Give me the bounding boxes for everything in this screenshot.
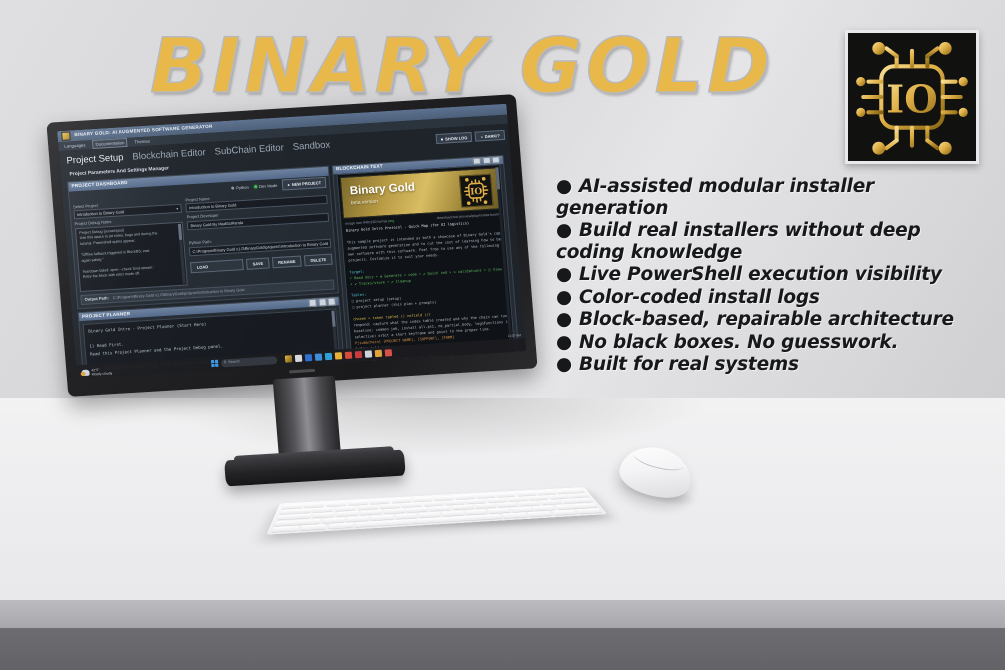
taskbar-icon-notepad[interactable] (364, 350, 372, 357)
python-label: Python (236, 184, 249, 190)
list-item: ●Live PowerShell execution visibility (556, 264, 976, 286)
taskbar-icon-edge[interactable] (304, 354, 312, 361)
monitor-brand-mark (289, 368, 315, 373)
rename-button[interactable]: RENAME (272, 255, 302, 268)
bullet-icon: ● (556, 309, 572, 331)
plus-icon: ● (287, 182, 290, 188)
list-item: ●Color-coded install logs (556, 287, 976, 309)
banner-subtitle: beta version (351, 196, 417, 207)
python-status-chip: Python (231, 184, 249, 190)
format-tag: png (388, 218, 394, 222)
taskbar-icon-recorder[interactable] (354, 351, 362, 358)
menu-item-themes[interactable]: Themes (132, 137, 152, 146)
feature-text: No black boxes. No guesswork. (579, 332, 898, 353)
bullet-icon: ● (556, 287, 572, 309)
feature-list: ●AI-assisted modular installer generatio… (556, 176, 976, 377)
output-path-value: C:\Program\Binary Gold v1.0\BinaryGold\p… (113, 287, 245, 300)
feature-text: Built for real systems (579, 354, 799, 375)
tab-project-setup[interactable]: Project Setup (66, 152, 124, 168)
banner-chip-logo-icon: IO (459, 173, 494, 207)
taskbar-icon-binary-gold[interactable] (284, 355, 292, 362)
taskbar-icon-tools[interactable] (374, 350, 382, 357)
save-button[interactable]: SAVE (246, 257, 269, 270)
feature-text: Block-based, repairable architecture (579, 309, 954, 330)
desktop-monitor: BINARY GOLD: AI AUGMENTED SOFTWARE GENER… (46, 94, 539, 422)
show-log-button[interactable]: ■ SHOW LOG (435, 132, 472, 145)
planner-window-buttons (308, 298, 336, 307)
list-item: ●AI-assisted modular installer generatio… (556, 176, 976, 219)
taskbar-icon-settings[interactable] (314, 353, 322, 360)
taskbar-icon-store[interactable] (324, 353, 332, 360)
bullet-icon: ● (556, 332, 572, 354)
app-icon (61, 131, 71, 141)
list-item: ●Build real installers without deep codi… (556, 220, 976, 263)
search-placeholder: Search (228, 360, 240, 366)
devmode-status-dot (254, 185, 258, 189)
show-log-label: SHOW LOG (445, 135, 468, 142)
devmode-status-chip: Dev Mode (253, 183, 277, 190)
python-status-dot (231, 186, 235, 190)
tray-clock: 11:07 AM (508, 333, 522, 338)
taskbar-icon-terminal[interactable] (384, 349, 392, 356)
blockchain-text-body: Binary Gold beta version (336, 164, 515, 368)
menu-item-languages[interactable]: Languages (62, 141, 88, 150)
binary-gold-chip-logo-icon: IO (845, 30, 979, 164)
bullet-icon: ● (556, 354, 572, 376)
delete-button[interactable]: DELETE (304, 253, 333, 266)
minimize-button[interactable] (308, 299, 317, 307)
logo-text: IO (886, 77, 937, 122)
load-button[interactable]: LOAD (190, 259, 244, 274)
bullet-icon: ● (556, 264, 572, 286)
dark-mode-button[interactable]: ◑ DARK/? (475, 130, 505, 142)
list-item: ●Block-based, repairable architecture (556, 309, 976, 331)
panel-title: PROJECT PLANNER (82, 311, 131, 320)
log-icon: ■ (441, 136, 444, 142)
bullet-icon: ● (556, 220, 572, 242)
poster-canvas: BINARY GOLD (0, 0, 1005, 670)
feature-text: Build real installers without deep codin… (556, 220, 921, 263)
taskbar-icon-explorer[interactable] (294, 355, 302, 362)
project-dashboard-panel: PROJECT DASHBOARD Python (67, 165, 339, 309)
system-tray[interactable]: 11:07 AM (508, 333, 522, 338)
maximize-button[interactable] (318, 298, 327, 306)
weather-text: 42°F Mostly cloudy (91, 367, 112, 376)
devmode-label: Dev Mode (259, 183, 278, 189)
taskbar-icon-folder[interactable] (334, 352, 342, 359)
output-path-label: Output Path: (84, 295, 109, 302)
search-icon: ⚲ (223, 360, 226, 365)
svg-text:IO: IO (470, 186, 483, 197)
debug-notes-textarea[interactable]: Project Debug [scratchpad] Use this spac… (75, 221, 188, 291)
desk-edge (0, 600, 1005, 628)
cloud-icon (81, 370, 89, 376)
bullet-icon: ● (556, 176, 572, 198)
taskbar-icon-media[interactable] (344, 352, 352, 359)
start-button[interactable] (210, 360, 218, 367)
monitor-screen: BINARY GOLD: AI AUGMENTED SOFTWARE GENER… (57, 104, 526, 379)
floor-strip (0, 628, 1005, 670)
feature-text: Color-coded install logs (579, 287, 820, 308)
binary-gold-app-window: BINARY GOLD: AI AUGMENTED SOFTWARE GENER… (57, 104, 526, 379)
feature-text: AI-assisted modular installer generation (556, 176, 874, 219)
list-item: ●No black boxes. No guesswork. (556, 332, 976, 354)
chevron-down-icon: ▼ (175, 206, 179, 211)
tab-sandbox[interactable]: Sandbox (292, 140, 330, 155)
binary-gold-banner: Binary Gold beta version (340, 167, 501, 219)
dashboard-action-buttons: LOAD SAVE RENAME DELETE (190, 253, 332, 273)
new-project-label: NEW PROJECT (292, 180, 322, 187)
select-project-value: Introduction to Binary Gold (77, 209, 125, 217)
moon-icon: ◑ (480, 134, 483, 140)
dark-mode-label: DARK/? (485, 133, 501, 139)
feature-text: Live PowerShell execution visibility (579, 264, 942, 285)
close-button[interactable] (327, 298, 336, 306)
list-item: ●Built for real systems (556, 354, 976, 376)
search-input[interactable]: ⚲ Search (220, 356, 277, 367)
monitor-bezel: BINARY GOLD: AI AUGMENTED SOFTWARE GENER… (46, 94, 537, 397)
